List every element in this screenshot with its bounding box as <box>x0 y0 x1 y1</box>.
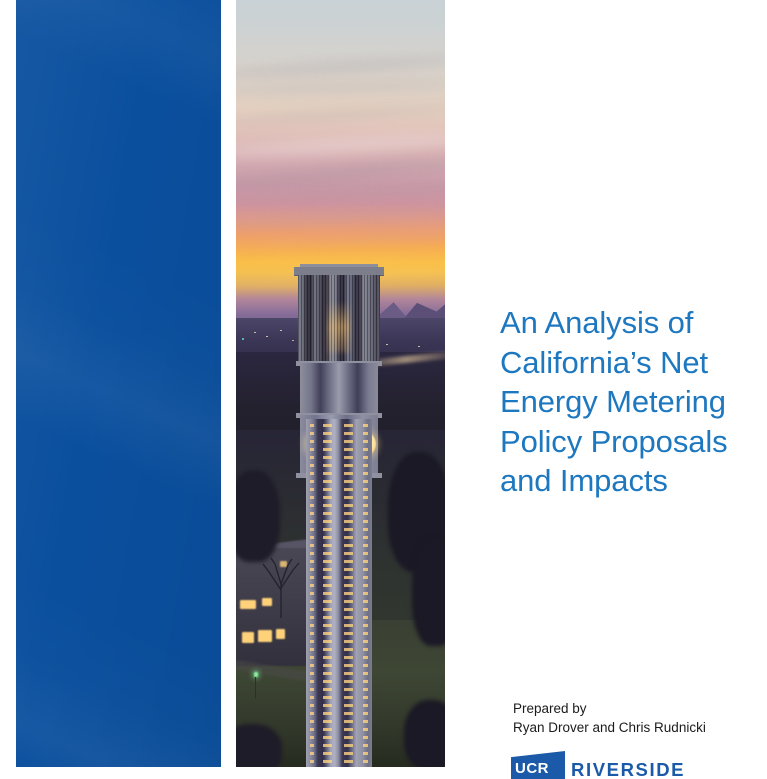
lamp-post <box>255 677 256 699</box>
lit-window <box>276 629 285 639</box>
decorative-blue-band <box>16 0 221 767</box>
tower-cap <box>294 267 384 275</box>
author-names: Ryan Drover and Chris Rudnicki <box>513 719 753 738</box>
cloud-band <box>236 101 445 128</box>
prepared-by-block: Prepared by Ryan Drover and Chris Rudnic… <box>513 700 753 737</box>
lit-window <box>258 630 272 642</box>
bell-tower <box>292 267 386 767</box>
cloud-band <box>236 133 445 159</box>
cloud-band <box>236 184 445 204</box>
lit-window <box>242 632 254 643</box>
cloud-band <box>236 54 445 80</box>
ucr-logo: UCR RIVERSIDE <box>511 749 759 779</box>
cloud-band <box>236 201 445 230</box>
prepared-by-label: Prepared by <box>513 701 587 716</box>
ucr-logo-mark-text: UCR <box>515 761 549 776</box>
tree-canopy <box>412 536 445 646</box>
tower-belfry <box>298 275 380 363</box>
city-light <box>280 330 282 331</box>
document-cover-page: An Analysis of California’s Net Energy M… <box>0 0 767 767</box>
ucr-logo-wordmark: RIVERSIDE <box>571 761 685 779</box>
lit-window <box>240 600 256 609</box>
city-light <box>386 344 388 345</box>
city-light <box>254 332 256 333</box>
belfry-louvres <box>298 275 380 363</box>
cover-photograph <box>236 0 445 767</box>
tower-shaft <box>306 419 372 767</box>
tower-window-lights <box>306 419 372 767</box>
cloud-band <box>236 79 445 95</box>
city-light <box>242 338 244 340</box>
tower-upper-shaft <box>300 363 378 415</box>
blue-band-sheen <box>16 0 221 767</box>
cloud-band <box>236 157 445 190</box>
tree-canopy <box>404 700 445 767</box>
page-title: An Analysis of California’s Net Energy M… <box>500 303 750 501</box>
city-light <box>266 336 268 337</box>
city-light <box>418 346 420 347</box>
tree-canopy <box>236 470 280 562</box>
cloud-band <box>236 229 445 252</box>
